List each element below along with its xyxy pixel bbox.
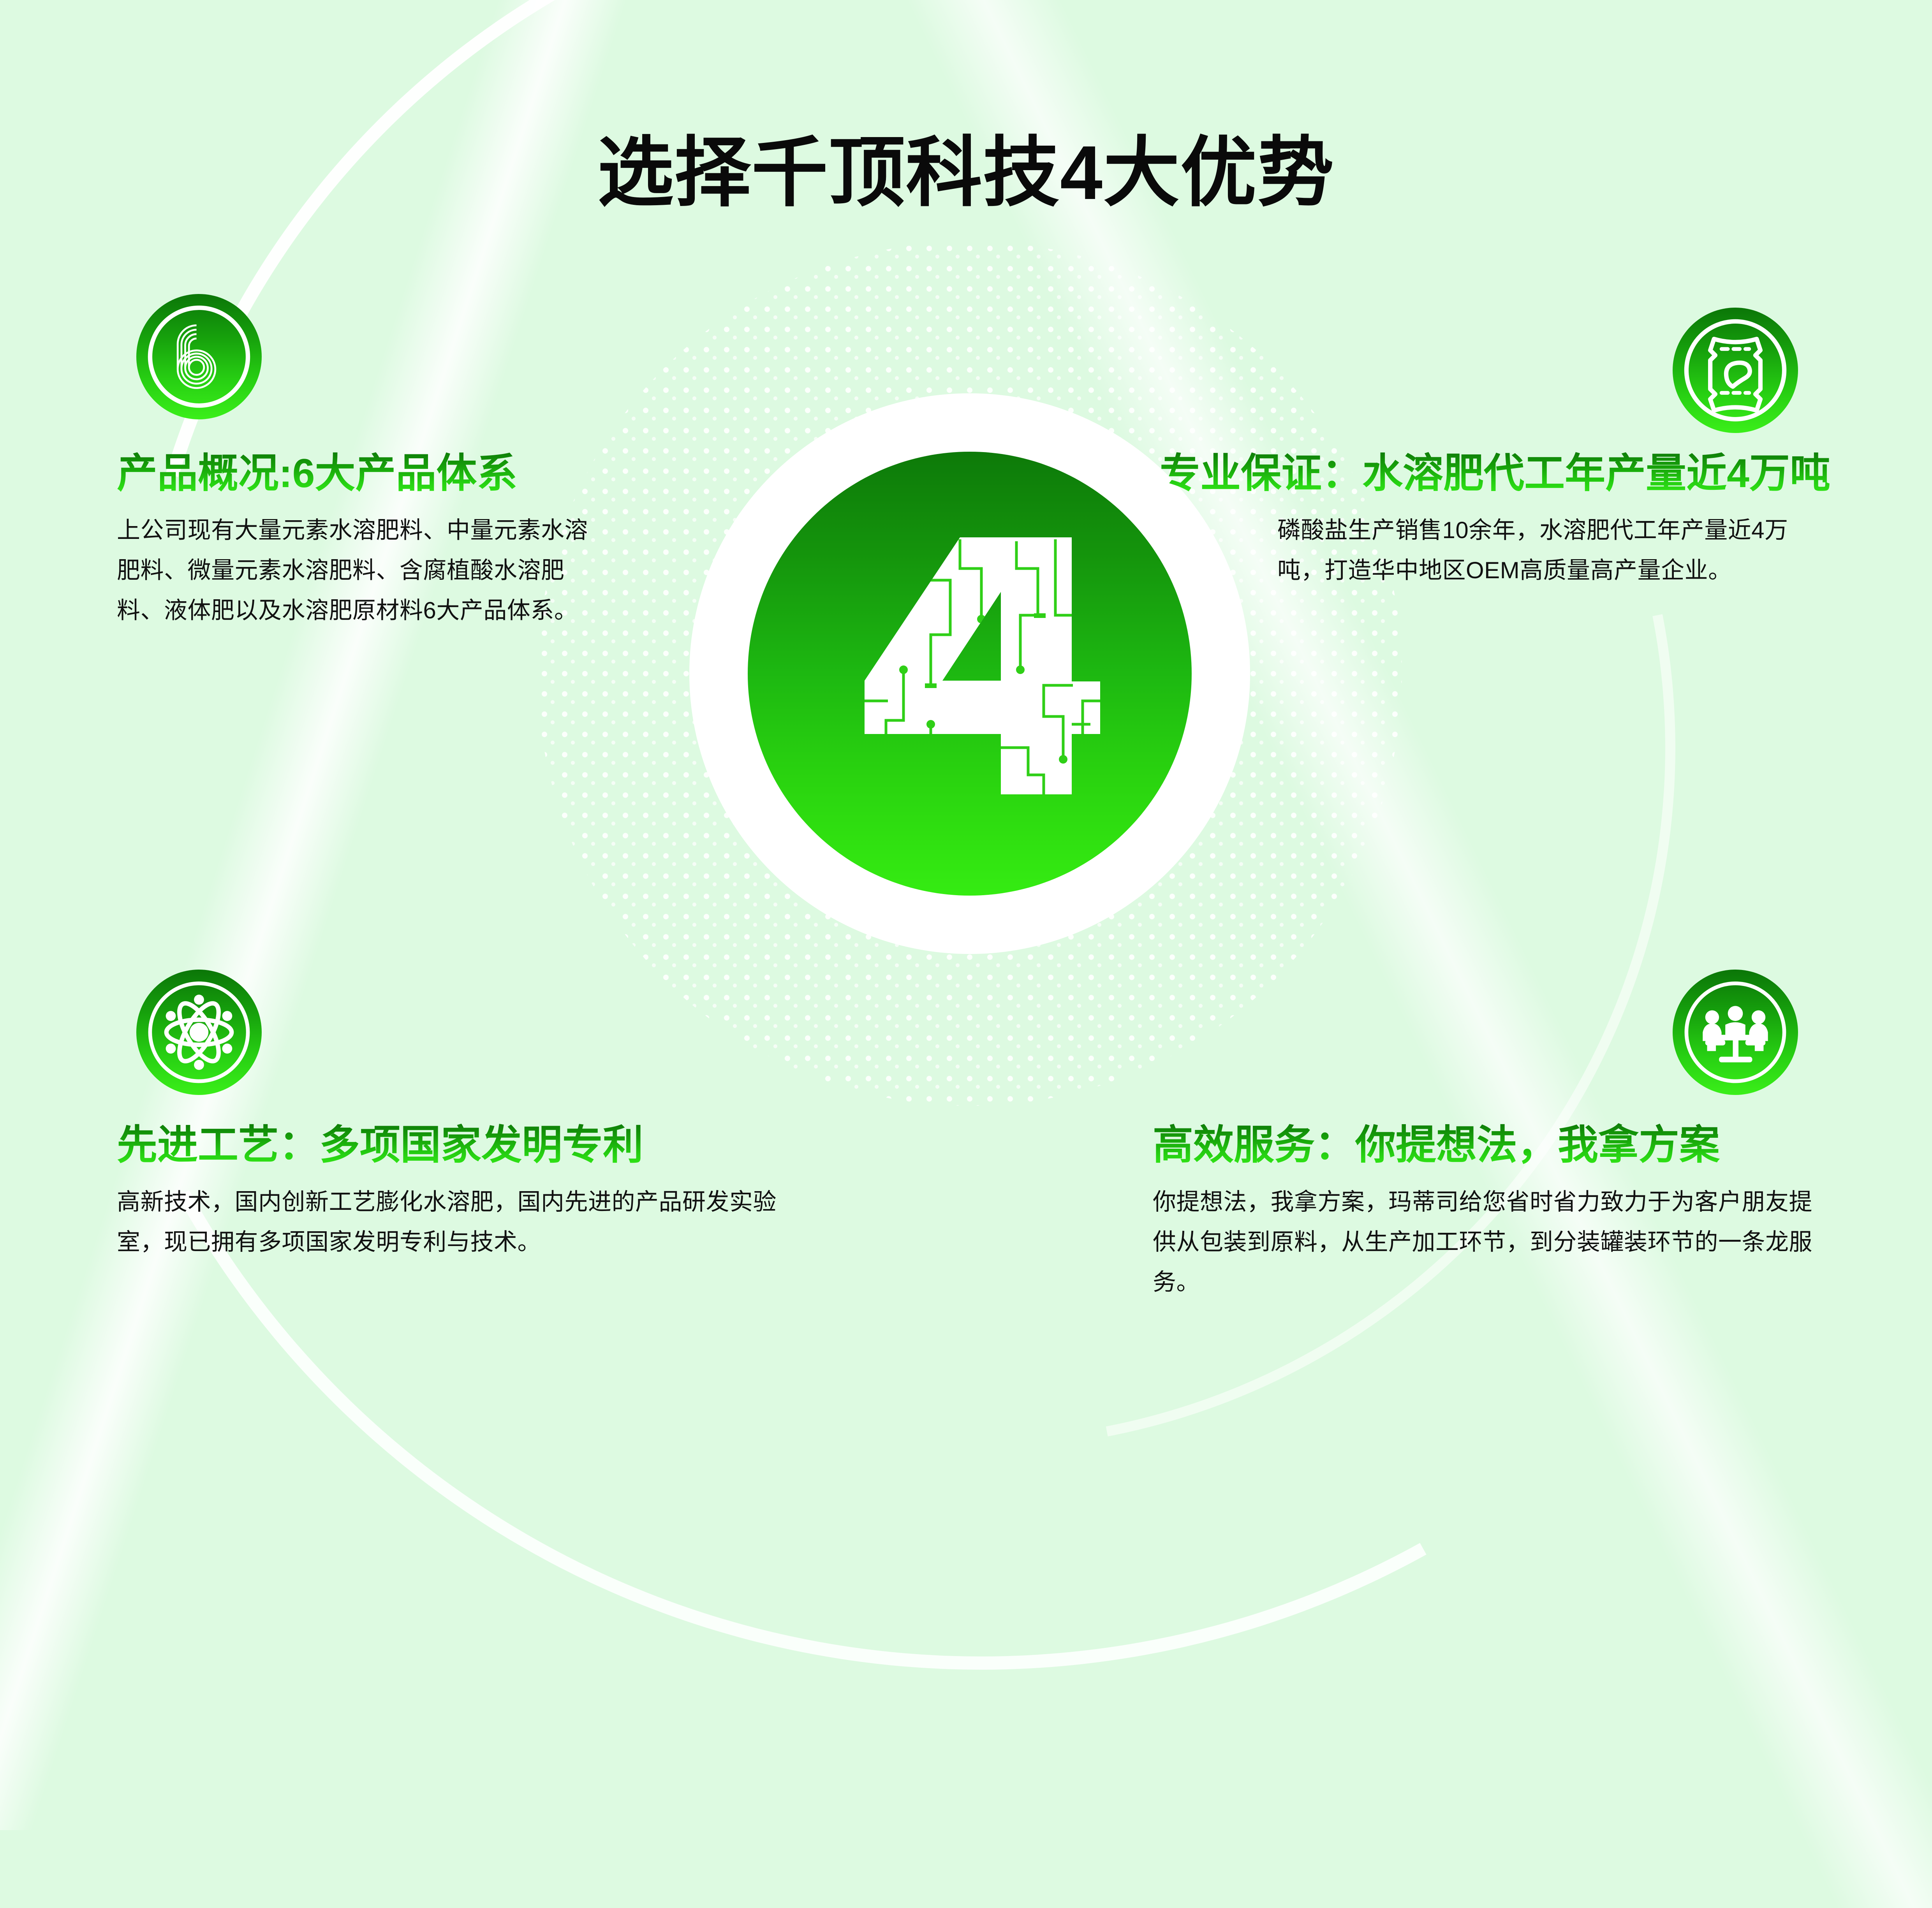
- advantage-bottom-right: 高效服务：你提想法，我拿方案 你提想法，我拿方案，玛蒂司给您省时省力致力于为客户…: [1153, 1121, 1830, 1302]
- advantage-heading: 产品概况:6大产品体系: [117, 450, 604, 498]
- advantage-heading: 专业保证：水溶肥代工年产量近4万吨: [1051, 450, 1830, 498]
- advantage-top-right: 专业保证：水溶肥代工年产量近4万吨 磷酸盐生产销售10余年，水溶肥代工年产量近4…: [1051, 450, 1830, 590]
- advantage-top-left: 产品概况:6大产品体系 上公司现有大量元素水溶肥料、中量元素水溶肥料、微量元素水…: [117, 450, 604, 630]
- number-six-rings-icon: 6: [136, 294, 262, 419]
- badge-top-right: [1673, 308, 1798, 433]
- advantage-body: 磷酸盐生产销售10余年，水溶肥代工年产量近4万吨，打造华中地区OEM高质量高产量…: [1277, 510, 1830, 590]
- advantage-body: 高新技术，国内创新工艺膨化水溶肥，国内先进的产品研发实验室，现已拥有多项国家发明…: [117, 1182, 779, 1262]
- badge-top-left: 6: [136, 294, 262, 419]
- fertilizer-bag-icon: [1673, 308, 1798, 433]
- advantage-body: 上公司现有大量元素水溶肥料、中量元素水溶肥料、微量元素水溶肥料、含腐植酸水溶肥料…: [117, 510, 604, 631]
- atom-icon: [136, 970, 262, 1095]
- advantage-heading: 高效服务：你提想法，我拿方案: [1153, 1121, 1830, 1169]
- badge-bottom-left: [136, 970, 262, 1095]
- badge-bottom-right: [1673, 970, 1798, 1095]
- meeting-people-icon: [1673, 970, 1798, 1095]
- page-title: 选择千顶科技4大优势: [0, 135, 1932, 211]
- advantage-bottom-left: 先进工艺：多项国家发明专利 高新技术，国内创新工艺膨化水溶肥，国内先进的产品研发…: [117, 1121, 779, 1262]
- advantage-body: 你提想法，我拿方案，玛蒂司给您省时省力致力于为客户朋友提供从包装到原料，从生产加…: [1153, 1182, 1830, 1303]
- poster-canvas: 选择千顶科技4大优势: [0, 0, 1932, 1472]
- advantage-heading: 先进工艺：多项国家发明专利: [117, 1121, 779, 1169]
- center-emblem: [537, 241, 1402, 1106]
